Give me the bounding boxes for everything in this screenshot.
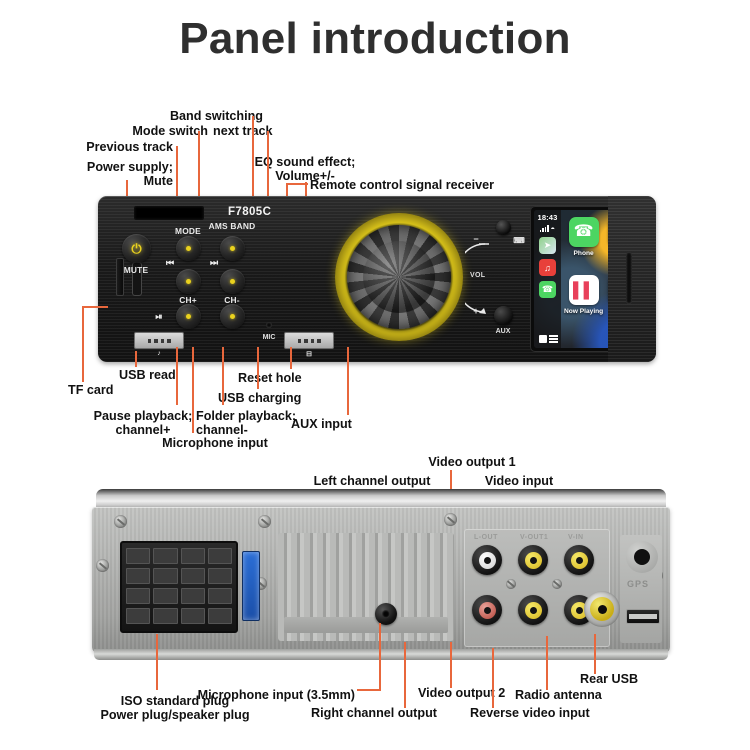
rca-pin bbox=[484, 607, 491, 614]
callout-radio-antenna: Radio antenna bbox=[515, 688, 602, 702]
label-mode: MODE bbox=[175, 227, 201, 236]
left-channel-output-jack[interactable] bbox=[472, 545, 502, 575]
next-track-icon: ⏭ bbox=[210, 259, 218, 268]
sidebar-app-netease-music[interactable]: ♫ bbox=[539, 259, 556, 276]
remote-icon: ⌨ bbox=[513, 236, 525, 245]
volume-minus-icon: − bbox=[473, 234, 478, 244]
volume-knob-ring bbox=[335, 213, 463, 341]
sidebar-app-phone[interactable]: ☎ bbox=[539, 281, 556, 298]
app-label: Now Playing bbox=[564, 308, 603, 315]
status-icons: ◓ bbox=[540, 224, 555, 232]
iso-pin-row bbox=[126, 588, 232, 604]
callout-left-channel-output: Left channel output bbox=[314, 474, 431, 488]
app-label: Phone bbox=[574, 250, 594, 257]
callout-mode-switch: Mode switch bbox=[132, 124, 208, 138]
leader-remote-h bbox=[286, 183, 308, 185]
video-input-jack[interactable] bbox=[564, 545, 594, 575]
usb-contact-strip bbox=[629, 614, 657, 619]
rear-chassis: L-OUT V-OUT1 V-IN bbox=[92, 507, 670, 653]
usb-contact bbox=[161, 339, 165, 343]
led-dot-icon bbox=[230, 279, 236, 285]
rca-ring-yellow bbox=[525, 602, 542, 619]
mode-button[interactable] bbox=[176, 236, 201, 261]
panel-introduction-page: Panel introduction Power supply; Mute Pr… bbox=[0, 0, 750, 750]
volume-plus-icon: + bbox=[473, 306, 478, 316]
rca-pin bbox=[530, 557, 537, 564]
model-number: F7805C bbox=[228, 206, 271, 218]
aux-input-jack[interactable] bbox=[494, 306, 513, 325]
callout-reset-hole: Reset hole bbox=[238, 371, 302, 385]
callout-rear-usb: Rear USB bbox=[580, 672, 638, 686]
callout-previous-track: Previous track bbox=[86, 140, 173, 154]
leader-microphone bbox=[192, 347, 194, 433]
heatsink-fins bbox=[278, 533, 454, 641]
usb-contact bbox=[154, 339, 158, 343]
emboss-label: L-OUT bbox=[474, 534, 498, 541]
callout-usb-read: USB read bbox=[119, 368, 176, 382]
remote-signal-receiver bbox=[496, 220, 511, 235]
callout-microphone-input-35mm: Microphone input (3.5mm) bbox=[198, 688, 355, 702]
led-dot-icon bbox=[186, 279, 192, 285]
video-output-2-jack[interactable] bbox=[518, 595, 548, 625]
leader-usb-charging bbox=[257, 347, 259, 389]
leader-pause-playback bbox=[176, 347, 178, 405]
iso-pin-row bbox=[126, 548, 232, 564]
rca-ring-yellow bbox=[571, 552, 588, 569]
callout-right-channel-output: Right channel output bbox=[311, 706, 437, 720]
play-pause-icon: ⏯ bbox=[155, 313, 162, 322]
usb-music-icon: ♪ bbox=[157, 350, 161, 357]
chassis-screw bbox=[114, 515, 127, 528]
leader-reset-hole bbox=[290, 347, 292, 369]
jack-pin bbox=[382, 610, 390, 618]
callout-power-supply-mute: Power supply; Mute bbox=[87, 160, 173, 189]
app-now-playing[interactable]: ▌▌ Now Playing bbox=[564, 275, 603, 333]
previous-track-button[interactable] bbox=[176, 269, 201, 294]
usb-charge-icon: ⊟ bbox=[306, 350, 312, 358]
callout-tf-card: TF card bbox=[68, 383, 114, 397]
carplay-sidebar: 18:43 ◓ ➤ ♫ ☎ bbox=[534, 210, 561, 348]
leader-folder-playback bbox=[222, 347, 224, 405]
gps-antenna-port[interactable] bbox=[626, 541, 658, 573]
rca-pin bbox=[484, 557, 491, 564]
microphone-input-hole[interactable] bbox=[266, 322, 272, 328]
wifi-icon: ◓ bbox=[551, 225, 556, 233]
label-mute: MUTE bbox=[124, 266, 149, 275]
now-playing-icon: ▌▌ bbox=[569, 275, 599, 305]
status-time: 18:43 bbox=[538, 213, 558, 222]
rca-pin bbox=[576, 607, 583, 614]
label-vol: VOL bbox=[470, 272, 485, 279]
app-phone[interactable]: ☎ Phone bbox=[564, 217, 603, 275]
callout-video-input: Video input bbox=[485, 474, 553, 488]
fuse[interactable] bbox=[242, 551, 260, 621]
radio-antenna-jack[interactable] bbox=[584, 591, 620, 627]
pause-playback-button[interactable] bbox=[176, 304, 201, 329]
rear-bottom-lip bbox=[94, 649, 668, 660]
usb-contact bbox=[311, 339, 315, 343]
leader-rear-usb bbox=[594, 634, 596, 674]
callout-microphone-input: Microphone input bbox=[162, 436, 268, 450]
chassis-screw bbox=[96, 559, 109, 572]
sidebar-app-maps[interactable]: ➤ bbox=[539, 237, 556, 254]
callout-folder-playback: Folder playback; channel- bbox=[196, 409, 296, 438]
leader-aux-input bbox=[347, 347, 349, 415]
chassis-screw bbox=[444, 513, 457, 526]
antenna-inner-ring bbox=[590, 597, 614, 621]
gps-emboss-label: GPS bbox=[627, 579, 649, 589]
tf-card-slot[interactable] bbox=[116, 258, 124, 296]
rca-ring-yellow bbox=[525, 552, 542, 569]
power-icon: ⏻ bbox=[131, 242, 141, 255]
leader-reverse-video bbox=[492, 648, 494, 708]
previous-track-icon: ⏮ bbox=[166, 259, 174, 268]
leader-iso-plug bbox=[156, 634, 158, 690]
usb-contact bbox=[148, 339, 152, 343]
usb-contact bbox=[167, 339, 171, 343]
antenna-pin bbox=[598, 605, 607, 614]
iso-pin-row bbox=[126, 568, 232, 584]
label-aux: AUX bbox=[496, 328, 511, 335]
callout-video-output-1: Video output 1 bbox=[428, 455, 515, 469]
label-mic: MIC bbox=[263, 334, 276, 341]
rca-pin bbox=[576, 557, 583, 564]
rear-panel-unit: L-OUT V-OUT1 V-IN bbox=[92, 489, 670, 660]
next-track-button[interactable] bbox=[220, 269, 245, 294]
leader-right-channel bbox=[404, 642, 406, 708]
led-dot-icon bbox=[230, 246, 236, 252]
iso-standard-connector[interactable] bbox=[120, 541, 238, 633]
callout-aux-input: AUX input bbox=[291, 417, 352, 431]
leader-video-output-2 bbox=[450, 642, 452, 688]
leader-mic35-v bbox=[379, 623, 381, 691]
usb-contact bbox=[298, 339, 302, 343]
callout-reverse-video-input: Reverse video input bbox=[470, 706, 590, 720]
leader-usb-read bbox=[135, 351, 137, 367]
plate-screw bbox=[506, 579, 516, 589]
usb-contact bbox=[304, 339, 308, 343]
rca-pin bbox=[530, 607, 537, 614]
page-title: Panel introduction bbox=[0, 14, 750, 64]
gps-port-hole bbox=[634, 549, 650, 565]
led-dot-icon bbox=[186, 314, 192, 320]
microphone-input-35mm-jack[interactable] bbox=[375, 603, 397, 625]
ams-band-button[interactable] bbox=[220, 236, 245, 261]
leader-tf-v bbox=[82, 306, 84, 382]
rca-ring-white bbox=[479, 552, 496, 569]
video-output-1-jack[interactable] bbox=[518, 545, 548, 575]
emboss-label: V-IN bbox=[568, 534, 584, 541]
leader-mic35-h bbox=[357, 689, 379, 691]
callout-band-switching: Band switching bbox=[170, 109, 263, 123]
display-window bbox=[134, 206, 204, 220]
led-dot-icon bbox=[186, 246, 192, 252]
usb-contact bbox=[317, 339, 321, 343]
gps-plate: GPS bbox=[620, 535, 662, 643]
cellular-signal-icon bbox=[540, 225, 549, 232]
volume-knob[interactable] bbox=[347, 225, 451, 329]
power-mute-button[interactable]: ⏻ bbox=[122, 234, 151, 263]
callout-next-track: next track bbox=[213, 124, 273, 138]
leader-tf-h bbox=[82, 306, 108, 308]
plate-screw bbox=[552, 579, 562, 589]
label-ams-band: AMS BAND bbox=[209, 222, 256, 231]
right-side-grille bbox=[608, 196, 656, 362]
rear-usb-port[interactable] bbox=[626, 609, 660, 624]
leader-radio-antenna bbox=[546, 636, 548, 690]
front-panel-unit: F7805C ⏻ MUTE MODE AMS BAND ⏮ ⏭ CH+ CH- … bbox=[98, 196, 656, 362]
folder-playback-button[interactable] bbox=[220, 304, 245, 329]
iso-pin-row bbox=[126, 608, 232, 624]
chassis-screw bbox=[258, 515, 271, 528]
callout-remote-control-receiver: Remote control signal receiver bbox=[310, 178, 494, 192]
phone-icon: ☎ bbox=[569, 217, 599, 247]
rca-ring-red bbox=[479, 602, 496, 619]
callout-pause-playback: Pause playback; channel+ bbox=[94, 409, 193, 438]
right-channel-output-jack[interactable] bbox=[472, 595, 502, 625]
led-dot-icon bbox=[230, 314, 236, 320]
callout-usb-charging: USB charging bbox=[218, 391, 301, 405]
emboss-label: V-OUT1 bbox=[520, 534, 548, 541]
rca-jack-plate: L-OUT V-OUT1 V-IN bbox=[464, 529, 610, 647]
